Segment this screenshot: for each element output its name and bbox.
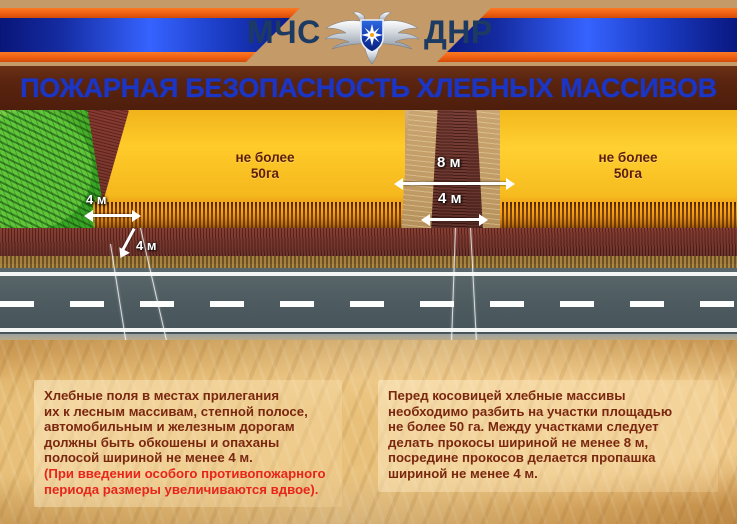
measure-arrow-mow-line [403,182,507,185]
measure-arrow-mow-head-left [394,178,403,190]
road-edge-line-top [0,272,737,276]
info-panel-left: Хлебные поля в местах прилеганияих к лес… [34,380,342,507]
infographic-page: МЧС ДНР [0,0,737,524]
field-left-area-label-line2: 50га [200,166,330,182]
info-panel-right: Перед косовицей хлебные массивынеобходим… [378,380,718,492]
road [0,268,737,340]
info-left-line-2: их к лесным массивам, степной полосе, [44,404,332,420]
ribbon-right-orange-bottom [437,52,737,62]
dnr-label: ДНР [424,14,493,51]
info-right-line-5: посредине прокосов делается пропашка [388,450,708,466]
measure-arrow-forest-gap-head-right [132,210,141,222]
field-right-area-label-line2: 50га [563,166,693,182]
measure-arrow-mow-head-right [506,178,515,190]
info-right-line-3: не более 50 га. Между участками следует [388,419,708,435]
info-left-line-7: периода размеры увеличиваются вдвое). [44,482,332,498]
page-title: ПОЖАРНАЯ БЕЗОПАСНОСТЬ ХЛЕБНЫХ МАССИВОВ [20,73,717,104]
measure-arrow-plow-head-right [479,214,488,226]
measure-label-forest-gap: 4 м [86,192,106,207]
info-right-line-1: Перед косовицей хлебные массивы [388,388,708,404]
info-right-line-2: необходимо разбить на участки площадью [388,404,708,420]
measure-arrow-plow-line [430,218,480,221]
field-left-area-label: не более 50га [200,150,330,181]
measure-label-plow-strip: 4 м [438,190,462,207]
mchs-eagle-emblem-icon [312,4,432,66]
info-left-line-5: полосой шириной не менее 4 м. [44,450,332,466]
info-left-line-3: автомобильным и железным дорогам [44,419,332,435]
road-center-dashes [0,301,737,307]
ribbon-left-orange-bottom [0,52,300,62]
info-right-line-6: шириной не менее 4 м. [388,466,708,482]
field-right-area-label-line1: не более [563,150,693,166]
info-right-line-4: делать прокосы шириной не менее 8 м, [388,435,708,451]
field-left-area-label-line1: не более [200,150,330,166]
measure-arrow-plow-head-left [421,214,430,226]
mchs-label: МЧС [247,14,321,51]
title-bar: ПОЖАРНАЯ БЕЗОПАСНОСТЬ ХЛЕБНЫХ МАССИВОВ [0,66,737,110]
measure-arrow-forest-gap-head-left [84,210,93,222]
road-edge-line-bottom [0,328,737,332]
info-left-line-4: должны быть обкошены и опаханы [44,435,332,451]
info-left-line-6: (При введении особого противопожарного [44,466,332,482]
field-right-area-label: не более 50га [563,150,693,181]
info-left-line-1: Хлебные поля в местах прилегания [44,388,332,404]
measure-label-mow-strip: 8 м [437,154,461,171]
measure-arrow-forest-gap-line [92,214,134,217]
header-banner: МЧС ДНР [0,0,737,70]
